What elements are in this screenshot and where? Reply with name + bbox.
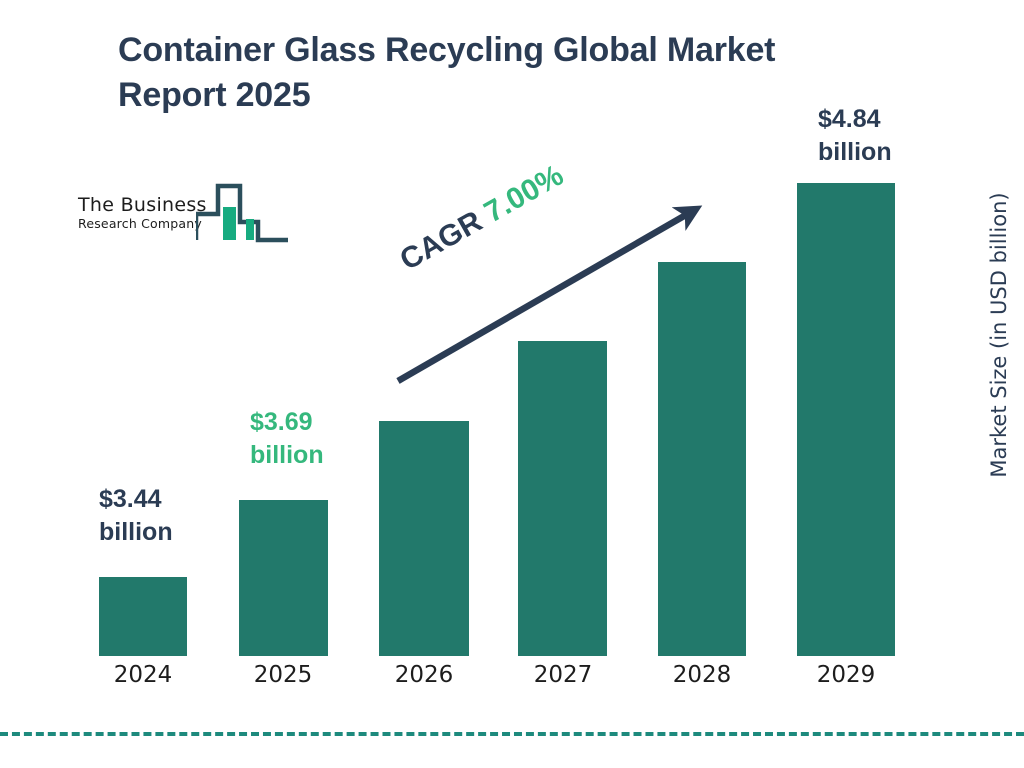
- value-label-2029: $4.84 billion: [818, 103, 892, 168]
- logo-line-2: Research Company: [78, 216, 206, 231]
- brand-logo: The Business Research Company: [78, 178, 288, 256]
- cagr-rate-text: 7.00%: [479, 159, 569, 230]
- value-label-2024: $3.44 billion: [99, 483, 173, 548]
- x-tick-2024: 2024: [83, 662, 203, 688]
- title-line-1: Container Glass Recycling Global Market: [118, 28, 918, 73]
- x-tick-2028: 2028: [642, 662, 762, 688]
- cagr-label-text: CAGR: [395, 201, 495, 277]
- bar-2024: [99, 577, 187, 656]
- bar-2025: [239, 500, 328, 656]
- x-tick-2026: 2026: [364, 662, 484, 688]
- x-tick-2025: 2025: [223, 662, 343, 688]
- bar-chart-logo-mark: [196, 178, 288, 250]
- cagr-annotation: CAGR 7.00%: [395, 159, 570, 278]
- footer-divider: [0, 732, 1024, 736]
- value-label-2025: $3.69 billion: [250, 406, 324, 471]
- bar-2026: [379, 421, 469, 656]
- bar-2029: [797, 183, 895, 656]
- x-tick-2029: 2029: [786, 662, 906, 688]
- logo-green-bar-tall: [223, 207, 236, 240]
- bar-2027: [518, 341, 607, 656]
- chart-canvas: Container Glass Recycling Global Market …: [0, 0, 1024, 768]
- title-line-2: Report 2025: [118, 73, 918, 118]
- x-tick-2027: 2027: [503, 662, 623, 688]
- y-axis-title: Market Size (in USD billion): [987, 165, 1017, 505]
- logo-text: The Business Research Company: [78, 194, 206, 231]
- page-title: Container Glass Recycling Global Market …: [118, 28, 918, 118]
- logo-outline-path: [196, 186, 288, 240]
- bar-2028: [658, 262, 746, 656]
- logo-green-bar-short: [246, 219, 254, 240]
- logo-line-1: The Business: [78, 194, 206, 216]
